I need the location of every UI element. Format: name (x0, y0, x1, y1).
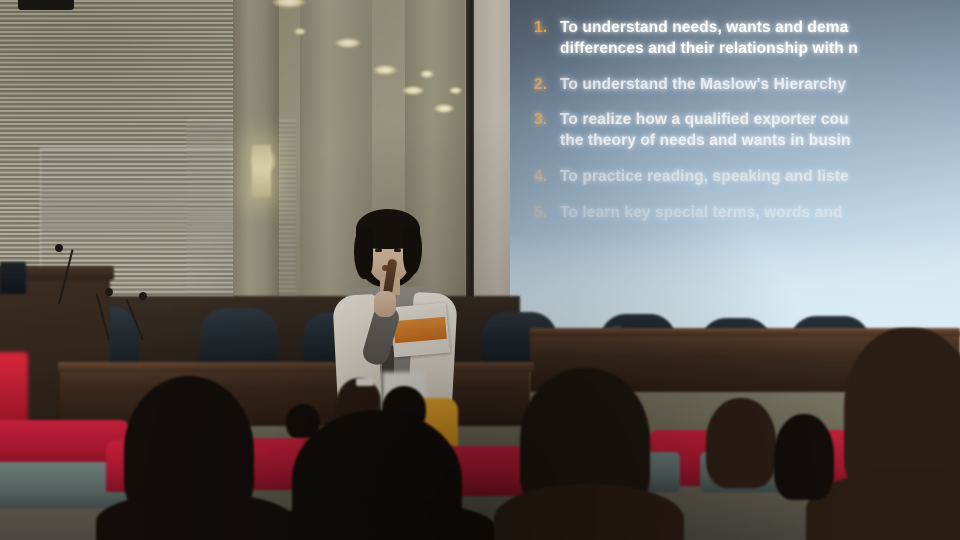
ceiling-light-icon (420, 70, 434, 78)
ceiling-light-icon (449, 87, 462, 94)
slide-line: To learn key special terms, words and (560, 204, 843, 221)
slide-line: To understand needs, wants and dema (560, 19, 848, 36)
slide-bullet-number: 1. (534, 18, 560, 39)
slide-bullet-1: 1. To understand needs, wants and dema d… (534, 18, 960, 60)
slide-line: the theory of needs and wants in busin (560, 132, 851, 149)
presenter-book-cover (393, 317, 447, 343)
slide-bullet-text: To learn key special terms, words and (560, 203, 843, 224)
ceiling-light-icon (294, 28, 306, 35)
slide-bullet-number: 3. (534, 110, 560, 131)
slide-bullet-4: 4. To practice reading, speaking and lis… (534, 167, 960, 188)
ceiling-light-icon (402, 86, 424, 95)
audience-head (774, 414, 834, 500)
ceiling-light-icon (373, 65, 397, 75)
wall-sconce-icon (252, 145, 271, 197)
podium-monitor (0, 262, 26, 294)
presenter-eye-left (375, 249, 382, 252)
presenter-eye-right (394, 249, 401, 252)
slide-bullet-5: 5. To learn key special terms, words and (534, 203, 960, 224)
slide-bullet-2: 2. To understand the Maslow's Hierarchy (534, 75, 960, 96)
audience-head (706, 398, 776, 488)
slide-bullet-text: To understand the Maslow's Hierarchy (560, 75, 846, 96)
slide-bullet-number: 4. (534, 167, 560, 188)
presenter-hair-left (354, 227, 373, 279)
stage-chair (200, 308, 278, 370)
slide-bullet-text: To understand needs, wants and dema diff… (560, 18, 858, 60)
slide-bullet-number: 5. (534, 203, 560, 224)
lecture-hall-photo: 1. To understand needs, wants and dema d… (0, 0, 960, 540)
slide-line: differences and their relationship with … (560, 40, 858, 57)
hair-clip (356, 378, 374, 386)
presenter-hand (374, 291, 396, 317)
ceiling-light-icon (335, 38, 361, 48)
ceiling-light-icon (434, 104, 454, 113)
slide-bullet-number: 2. (534, 75, 560, 96)
slide-bullet-text: To realize how a qualified exporter cou … (560, 110, 851, 152)
slide-line: To practice reading, speaking and liste (560, 168, 849, 185)
slide-bullet-text: To practice reading, speaking and liste (560, 167, 849, 188)
ceiling-dark-fixture (18, 0, 74, 10)
slide-line: To understand the Maslow's Hierarchy (560, 76, 846, 93)
presenter-hair-right (403, 225, 422, 275)
projection-screen: 1. To understand needs, wants and dema d… (510, 0, 960, 352)
slide-bullet-3: 3. To realize how a qualified exporter c… (534, 110, 960, 152)
slide-bullet-list: 1. To understand needs, wants and dema d… (534, 18, 960, 238)
slide-line: To realize how a qualified exporter cou (560, 111, 849, 128)
